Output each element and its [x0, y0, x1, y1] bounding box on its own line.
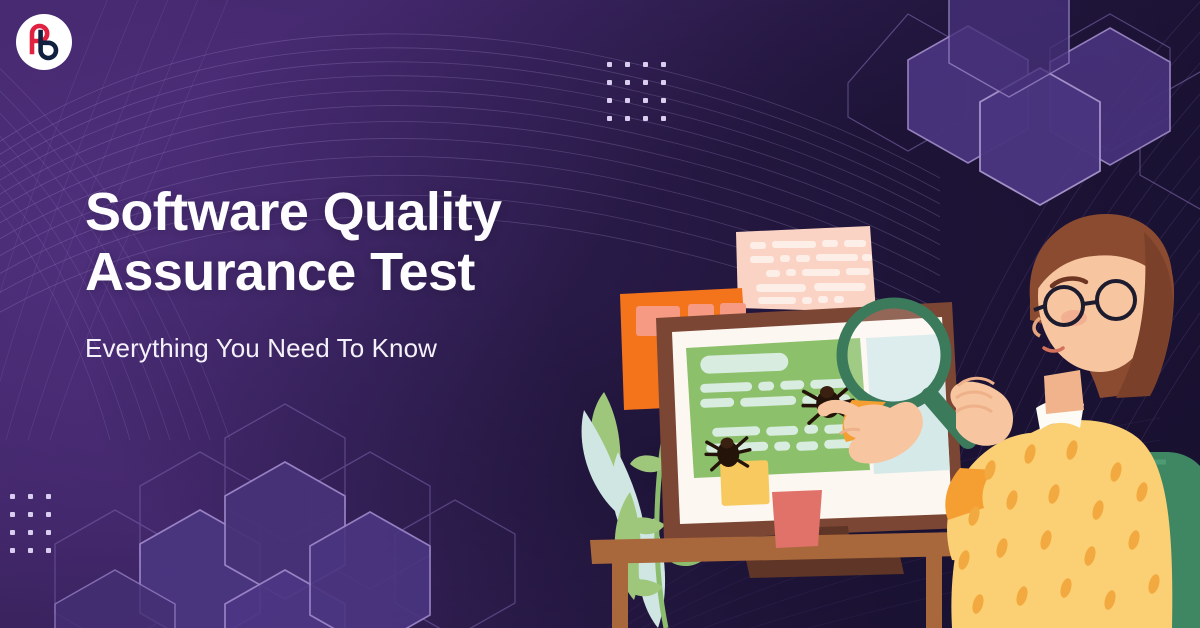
- qa-testing-illustration: [560, 0, 1200, 628]
- page-title-line-1: Software Quality: [85, 182, 502, 242]
- sweater: [951, 420, 1172, 628]
- banner-root: Software Quality Assurance Test Everythi…: [0, 0, 1200, 628]
- coffee-cup-icon: [772, 490, 822, 548]
- pink-document-card: [736, 226, 876, 312]
- page-title-line-2: Assurance Test: [85, 242, 475, 302]
- sticky-note: [720, 460, 770, 506]
- pb-monogram-logo-icon: [23, 21, 65, 63]
- dot-grid-left-icon: [10, 494, 51, 553]
- brand-logo[interactable]: [16, 14, 72, 70]
